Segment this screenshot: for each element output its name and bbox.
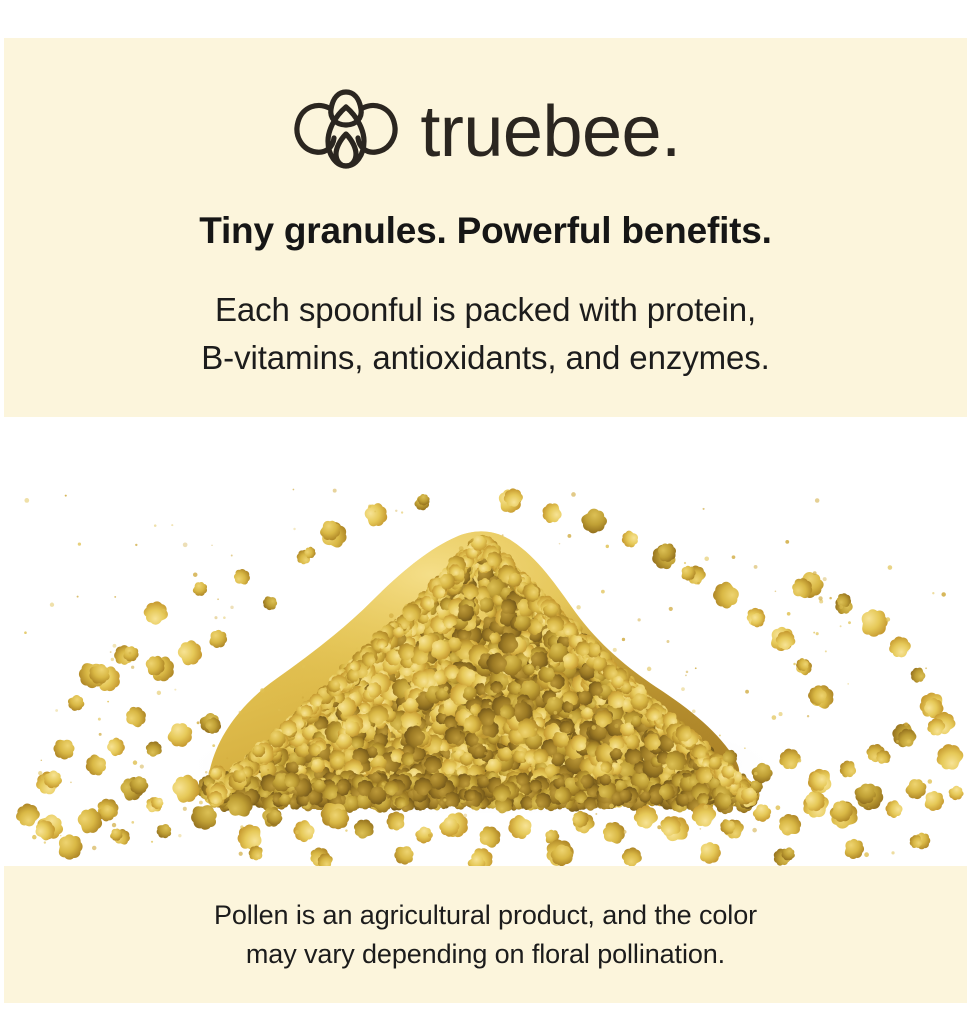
disclaimer-band: Pollen is an agricultural product, and t… [4, 866, 967, 1003]
hero-subhead-line-2: B-vitamins, antioxidants, and enzymes. [4, 334, 967, 382]
brand-wordmark: truebee. [420, 96, 680, 168]
hero-panel: truebee. Tiny granules. Powerful benefit… [4, 38, 967, 417]
hero-subhead: Each spoonful is packed with protein, B-… [4, 286, 967, 382]
hero-subhead-line-1: Each spoonful is packed with protein, [4, 286, 967, 334]
disclaimer-line-1: Pollen is an agricultural product, and t… [4, 896, 967, 935]
truebee-flower-bee-mark-icon [290, 89, 402, 171]
bee-pollen-granules-image [4, 417, 967, 866]
hero-headline: Tiny granules. Powerful benefits. [4, 210, 967, 252]
disclaimer-line-2: may vary depending on floral pollination… [4, 935, 967, 974]
brand-lockup[interactable]: truebee. [4, 86, 967, 174]
disclaimer-text: Pollen is an agricultural product, and t… [4, 896, 967, 974]
product-photo [4, 417, 967, 866]
ad-creative-canvas: truebee. Tiny granules. Powerful benefit… [0, 0, 967, 1024]
